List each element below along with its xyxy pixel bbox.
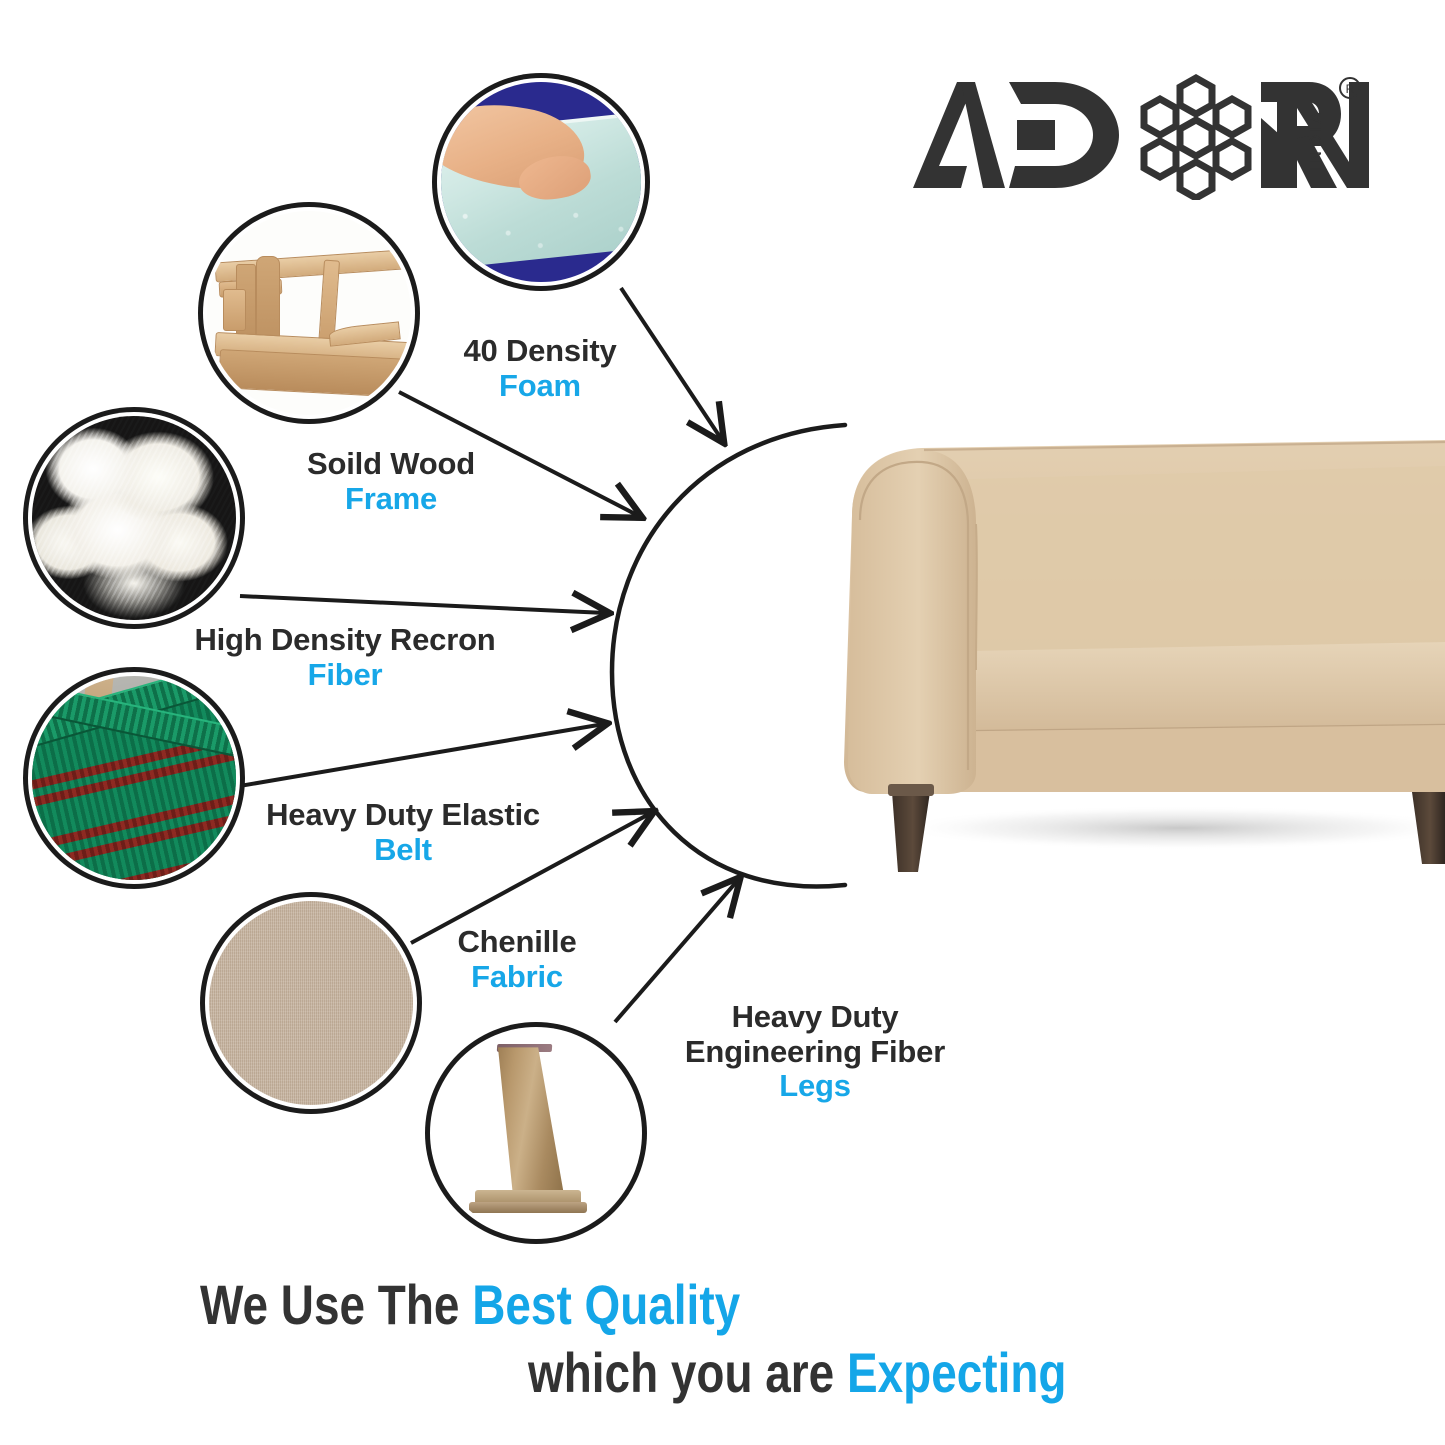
wire-foam — [621, 288, 722, 440]
label-legs-title-line2: Engineering Fiber — [660, 1035, 970, 1070]
label-fiber-highlight: Fiber — [190, 658, 500, 693]
feature-image-belt — [28, 672, 240, 884]
elastic-belt-photo — [32, 676, 236, 880]
label-foam-highlight: Foam — [455, 369, 625, 404]
label-legs-highlight: Legs — [660, 1069, 970, 1104]
tagline-line-2: which you are Expecting — [528, 1340, 1066, 1405]
label-fabric-title: Chenille — [458, 924, 577, 959]
feature-image-fabric — [205, 897, 417, 1109]
feature-image-legs — [430, 1027, 642, 1239]
feature-image-fiber — [28, 412, 240, 624]
label-belt: Heavy Duty Elastic Belt — [258, 798, 548, 867]
tagline-1-plain: We Use The — [200, 1273, 472, 1336]
sofa-leg-photo — [434, 1031, 638, 1235]
tagline-1-highlight: Best Quality — [472, 1273, 740, 1336]
infographic-canvas: INDIA R — [0, 0, 1445, 1445]
label-legs-title-line1: Heavy Duty — [732, 999, 899, 1034]
recron-fiber-photo — [32, 416, 236, 620]
wood-frame-photo — [207, 211, 411, 415]
label-foam-title: 40 Density — [463, 333, 616, 368]
label-fiber-title: High Density Recron — [194, 622, 495, 657]
tagline-2-plain: which you are — [528, 1341, 847, 1404]
wire-fiber — [240, 596, 606, 613]
label-foam: 40 Density Foam — [455, 334, 625, 403]
foam-photo — [441, 82, 641, 282]
feature-image-foam — [437, 78, 645, 286]
label-fabric: Chenille Fabric — [437, 925, 597, 994]
tagline-2-highlight: Expecting — [847, 1341, 1066, 1404]
label-legs: Heavy Duty Engineering Fiber Legs — [660, 1000, 970, 1104]
wire-belt — [222, 724, 604, 789]
label-frame: Soild Wood Frame — [297, 447, 485, 516]
feature-image-frame — [203, 207, 415, 419]
product-sofa — [800, 420, 1445, 890]
label-fiber: High Density Recron Fiber — [190, 623, 500, 692]
label-frame-title: Soild Wood — [307, 446, 475, 481]
label-belt-title: Heavy Duty Elastic — [266, 797, 540, 832]
tagline-line-1: We Use The Best Quality — [200, 1272, 740, 1337]
label-belt-highlight: Belt — [258, 833, 548, 868]
chenille-fabric-swatch — [209, 901, 413, 1105]
label-fabric-highlight: Fabric — [437, 960, 597, 995]
label-frame-highlight: Frame — [297, 482, 485, 517]
